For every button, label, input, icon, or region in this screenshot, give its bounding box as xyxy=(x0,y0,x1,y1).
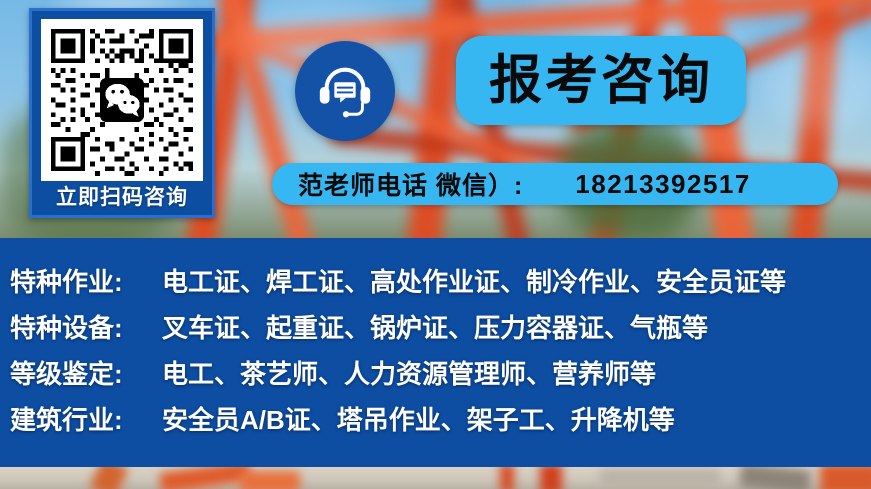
wechat-qr-code-icon[interactable] xyxy=(41,19,203,181)
strip-blur-shape xyxy=(739,467,811,489)
headset-support-icon xyxy=(314,60,376,122)
contact-label: 范老师电话 微信）: xyxy=(298,166,523,202)
strip-blur-shape xyxy=(240,471,300,489)
contact-phone-number[interactable]: 18213392517 xyxy=(575,169,751,200)
info-row-value: 电工、茶艺师、人力资源管理师、营养师等 xyxy=(162,354,656,391)
info-row: 等级鉴定: 电工、茶艺师、人力资源管理师、营养师等 xyxy=(10,354,871,400)
info-row: 建筑行业: 安全员A/B证、塔吊作业、架子工、升降机等 xyxy=(10,400,871,446)
info-row: 特种作业: 电工证、焊工证、高处作业证、制冷作业、安全员证等 xyxy=(10,262,871,308)
strip-blur-shape xyxy=(500,467,514,489)
info-row-category: 特种设备: xyxy=(10,308,162,345)
strip-blur-shape xyxy=(540,467,562,489)
support-headset-badge[interactable] xyxy=(295,41,395,141)
info-row-value: 叉车证、起重证、锅炉证、压力容器证、气瓶等 xyxy=(162,308,708,345)
info-row-category: 等级鉴定: xyxy=(10,354,162,391)
info-row-value: 电工证、焊工证、高处作业证、制冷作业、安全员证等 xyxy=(162,262,786,299)
info-row-category: 特种作业: xyxy=(10,262,162,299)
info-row-value: 安全员A/B证、塔吊作业、架子工、升降机等 xyxy=(162,400,675,437)
strip-blur-shape xyxy=(820,467,871,489)
bottom-photo-strip xyxy=(0,467,871,489)
page-title: 报考咨询 xyxy=(489,54,713,107)
info-row-category: 建筑行业: xyxy=(10,400,162,437)
contact-badge[interactable]: 范老师电话 微信）: 18213392517 xyxy=(272,163,838,205)
qr-code-card[interactable]: 立即扫码咨询 xyxy=(29,8,215,218)
strip-blur-shape xyxy=(89,467,129,489)
certification-list-panel: 特种作业: 电工证、焊工证、高处作业证、制冷作业、安全员证等 特种设备: 叉车证… xyxy=(0,238,871,467)
info-row: 特种设备: 叉车证、起重证、锅炉证、压力容器证、气瓶等 xyxy=(10,308,871,354)
qr-scan-label: 立即扫码咨询 xyxy=(56,181,188,215)
strip-blur-shape xyxy=(159,467,251,489)
strip-blur-shape xyxy=(600,469,720,487)
promo-poster: 立即扫码咨询 报考咨询 范老师电话 微信）: 18213392517 xyxy=(0,0,871,489)
title-badge: 报考咨询 xyxy=(456,36,746,125)
